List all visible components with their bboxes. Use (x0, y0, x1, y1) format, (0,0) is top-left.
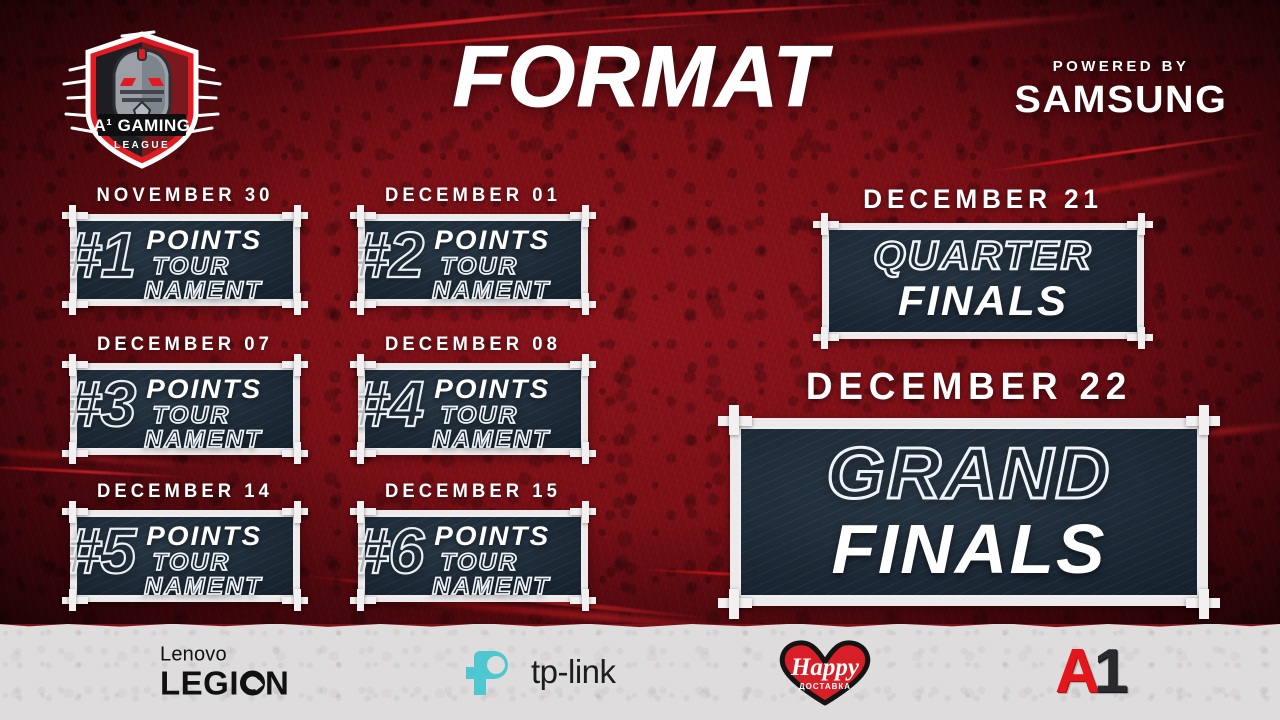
a1-letter: A (1055, 641, 1096, 703)
quarterfinals-date: DECEMBER 21 (827, 186, 1139, 213)
tournament-panel: #5 POINTS TOUR NAMENT (70, 510, 300, 602)
tournament-number: #1 (70, 228, 135, 283)
tournament-label-line3: NAMENT (144, 575, 262, 598)
grandfinals-line2: FINALS (730, 516, 1208, 583)
tournament-card[interactable]: DECEMBER 08 #4 POINTS TOUR NAMENT (358, 335, 588, 455)
tournament-date: NOVEMBER 30 (73, 186, 296, 205)
grandfinals-card[interactable]: DECEMBER 22 GRAND FINALS (730, 368, 1208, 606)
happy-wordmark: Happy (790, 654, 860, 681)
tournament-card[interactable]: NOVEMBER 30 #1 POINTS TOUR NAMENT (70, 186, 300, 306)
sponsor-happy-dostavka[interactable]: Happy ДОСТАВКА (775, 637, 875, 707)
tournament-card[interactable]: DECEMBER 15 #6 POINTS TOUR NAMENT (358, 482, 588, 602)
grandfinals-panel: GRAND FINALS (730, 418, 1208, 606)
samsung-logo: SAMSUNG (1012, 81, 1230, 119)
panel-content: #3 POINTS TOUR NAMENT (70, 363, 300, 455)
tournament-date: DECEMBER 15 (361, 482, 584, 501)
tp-link-wordmark: tp-link (531, 653, 616, 691)
grandfinals-date: DECEMBER 22 (737, 368, 1201, 406)
tp-link-icon (462, 641, 522, 703)
tournament-date: DECEMBER 14 (73, 482, 296, 501)
legion-text-tail: N (265, 667, 289, 700)
poster-canvas: A¹ GAMING LEAGUE FORMAT POWERED BY SAMSU… (0, 0, 1280, 720)
sponsor-bar: Lenovo LEGI N tp-link Happy ДОСТАВКА (0, 624, 1280, 720)
legion-text: LEGI (160, 667, 239, 700)
tournament-date: DECEMBER 08 (361, 335, 584, 354)
tournament-panel: #2 POINTS TOUR NAMENT (358, 214, 588, 306)
tournament-label-line2: TOUR (440, 551, 550, 574)
tournament-label-line3: NAMENT (432, 279, 550, 302)
panel-content: GRAND FINALS (730, 418, 1208, 606)
tournament-label-line1: POINTS (146, 377, 262, 402)
tournament-label-line2: TOUR (152, 551, 262, 574)
tournament-label-line1: POINTS (146, 228, 262, 253)
sponsor-tp-link[interactable]: tp-link (462, 641, 616, 703)
tournament-date: DECEMBER 07 (73, 335, 296, 354)
tournament-number: #5 (70, 524, 135, 579)
tournament-number: #3 (70, 377, 135, 432)
happy-subword: ДОСТАВКА (799, 682, 851, 691)
tournament-label-line2: TOUR (152, 255, 262, 278)
tournament-label-line1: POINTS (434, 377, 550, 402)
panel-content: #6 POINTS TOUR NAMENT (358, 510, 588, 602)
quarterfinals-panel: QUARTER FINALS (822, 223, 1144, 339)
panel-content: #2 POINTS TOUR NAMENT (358, 214, 588, 306)
tournament-number: #2 (358, 228, 423, 283)
tournament-label-line2: TOUR (152, 404, 262, 427)
quarterfinals-line2: FINALS (822, 281, 1144, 321)
panel-content: #1 POINTS TOUR NAMENT (70, 214, 300, 306)
panel-content: #4 POINTS TOUR NAMENT (358, 363, 588, 455)
legion-wordmark: LEGI N (160, 667, 289, 700)
sponsor-a1[interactable]: A 1 (1055, 641, 1126, 703)
sponsor-lenovo-legion[interactable]: Lenovo LEGI N (160, 645, 289, 700)
quarterfinals-line1: QUARTER (822, 237, 1144, 275)
powered-by-label: POWERED BY (1016, 58, 1226, 75)
quarterfinals-card[interactable]: DECEMBER 21 QUARTER FINALS (822, 186, 1144, 339)
tournament-label-line3: NAMENT (432, 428, 550, 451)
tournament-card[interactable]: DECEMBER 01 #2 POINTS TOUR NAMENT (358, 186, 588, 306)
tournament-label-line1: POINTS (146, 524, 262, 549)
tournament-label-line3: NAMENT (144, 279, 262, 302)
panel-content: QUARTER FINALS (822, 223, 1144, 339)
tournament-number: #4 (358, 377, 423, 432)
tournament-label-line1: POINTS (434, 228, 550, 253)
tournament-card[interactable]: DECEMBER 14 #5 POINTS TOUR NAMENT (70, 482, 300, 602)
tournament-panel: #6 POINTS TOUR NAMENT (358, 510, 588, 602)
tournament-date: DECEMBER 01 (361, 186, 584, 205)
tournament-label-line3: NAMENT (432, 575, 550, 598)
grandfinals-line1: GRAND (730, 440, 1208, 508)
svg-text:LEAGUE: LEAGUE (114, 140, 170, 151)
tournament-panel: #3 POINTS TOUR NAMENT (70, 363, 300, 455)
tournament-number: #6 (358, 524, 423, 579)
panel-content: #5 POINTS TOUR NAMENT (70, 510, 300, 602)
lenovo-wordmark: Lenovo (160, 645, 289, 665)
tournament-card[interactable]: DECEMBER 07 #3 POINTS TOUR NAMENT (70, 335, 300, 455)
tournament-label-line2: TOUR (440, 255, 550, 278)
powered-by-block: POWERED BY SAMSUNG (1016, 58, 1226, 119)
legion-o-ring-icon (240, 671, 265, 696)
tournament-panel: #1 POINTS TOUR NAMENT (70, 214, 300, 306)
tournament-label-line1: POINTS (434, 524, 550, 549)
tournament-panel: #4 POINTS TOUR NAMENT (358, 363, 588, 455)
a1-digit: 1 (1094, 641, 1126, 703)
tournament-label-line3: NAMENT (144, 428, 262, 451)
tournament-label-line2: TOUR (440, 404, 550, 427)
